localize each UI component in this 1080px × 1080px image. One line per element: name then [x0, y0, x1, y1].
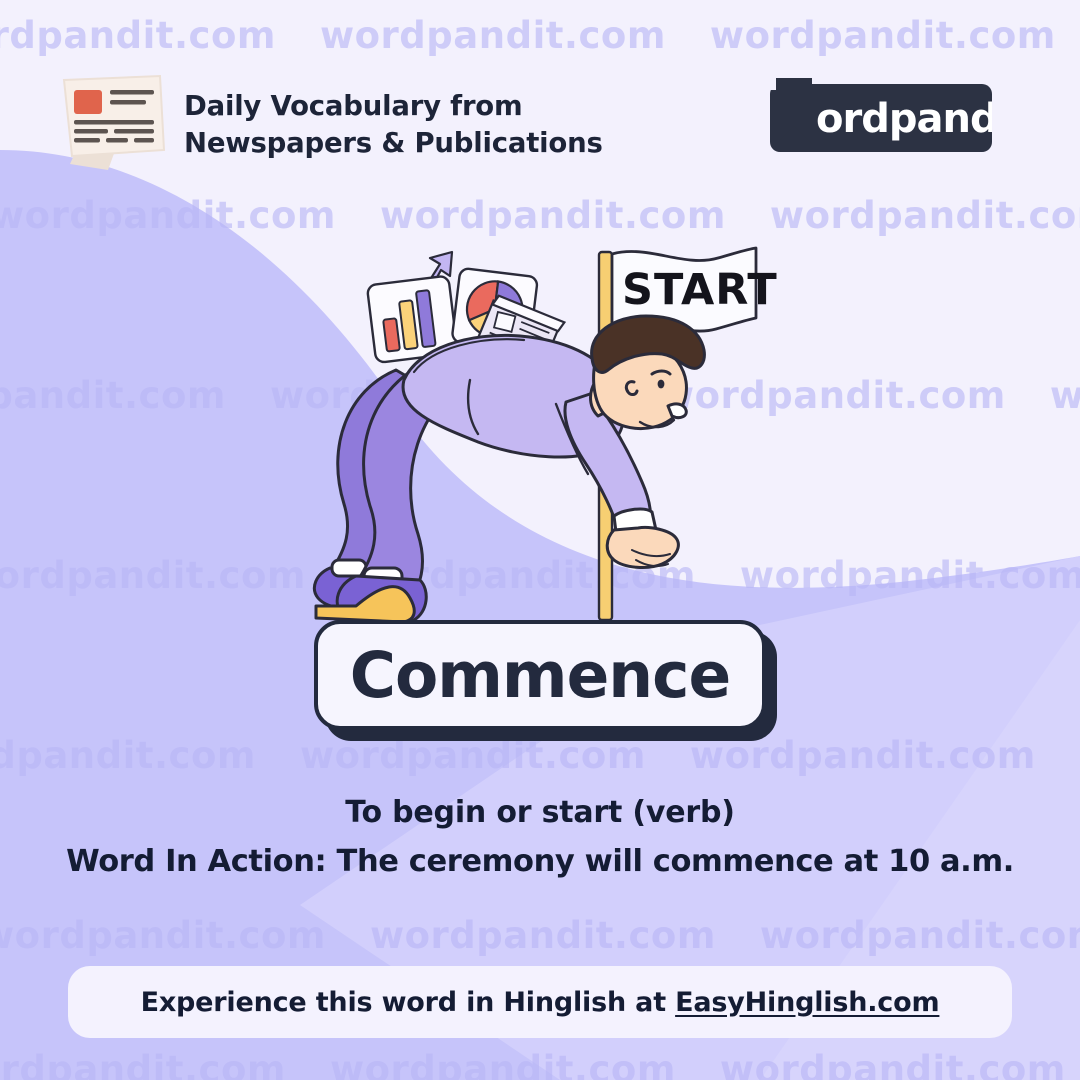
header-title-line-1: Daily Vocabulary from: [184, 90, 522, 122]
header-title: Daily Vocabulary from Newspapers & Publi…: [184, 88, 603, 161]
brand-logo-text: ordpandit: [816, 96, 992, 142]
newspaper-icon: [56, 70, 172, 174]
footer-text: Experience this word in Hinglish at Easy…: [141, 987, 940, 1018]
start-flag-label: START: [622, 265, 778, 315]
definition-meaning: To begin or start (verb): [0, 795, 1080, 830]
definition-example: Word In Action: The ceremony will commen…: [0, 844, 1080, 879]
easyhinglish-link[interactable]: EasyHinglish.com: [675, 987, 939, 1018]
definition-block: To begin or start (verb) Word In Action:…: [0, 795, 1080, 879]
content-layer: Daily Vocabulary from Newspapers & Publi…: [0, 0, 1080, 1080]
brand-logo[interactable]: ordpandit: [770, 78, 992, 158]
header: Daily Vocabulary from Newspapers & Publi…: [52, 66, 1028, 176]
word-card: Commence: [314, 620, 766, 730]
runner-at-starting-block-illustration: START: [0, 230, 1080, 650]
header-title-line-2: Newspapers & Publications: [184, 125, 603, 162]
crouching-runner-icon: [314, 316, 704, 628]
word-card-wrap: Commence: [0, 620, 1080, 740]
word-text: Commence: [350, 644, 730, 707]
footer-bar[interactable]: Experience this word in Hinglish at Easy…: [68, 966, 1012, 1038]
footer-prefix: Experience this word in Hinglish at: [141, 987, 676, 1018]
